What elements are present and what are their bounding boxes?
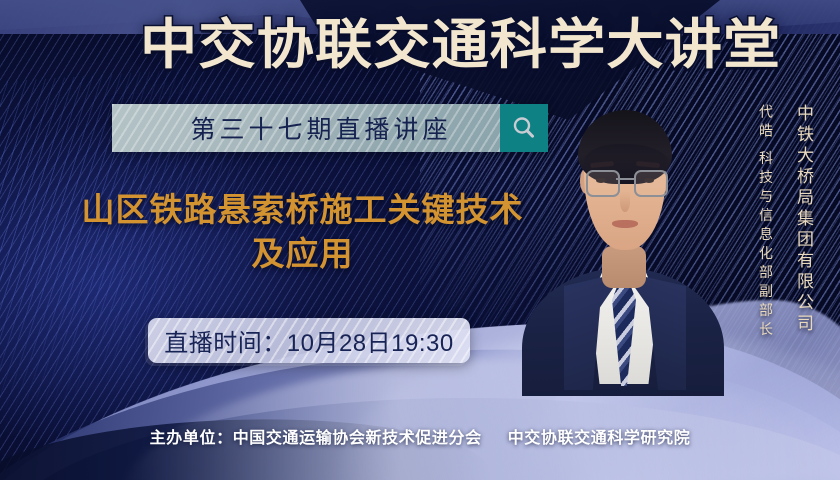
glasses-lens-right: [634, 170, 668, 197]
organizer-label: 主办单位：: [150, 430, 233, 447]
speaker-organization: 中铁大桥局集团有限公司: [791, 104, 816, 335]
glasses-lens-left: [586, 170, 620, 197]
episode-label-box: 第三十七期直播讲座: [112, 104, 500, 152]
speaker-neck: [602, 246, 646, 288]
speaker-name-role: 代皓 科技与信息化部副部长: [756, 104, 776, 341]
topic-line-1: 山区铁路悬索桥施工关键技术: [82, 191, 524, 228]
speaker-mouth: [612, 220, 638, 228]
broadcast-time-badge: 直播时间：10月28日19:30: [148, 318, 470, 363]
glasses-bridge: [616, 178, 634, 180]
webinar-poster: 中交协联交通科学大讲堂 第三十七期直播讲座 山区铁路悬索桥施工关键技术 及应用 …: [0, 0, 840, 480]
episode-label: 第三十七期直播讲座: [160, 110, 451, 146]
speaker-portrait: [528, 96, 718, 386]
topic-line-2: 及应用: [30, 232, 575, 276]
organizer-name-1: 中国交通运输协会新技术促进分会: [233, 430, 482, 447]
lecture-topic: 山区铁路悬索桥施工关键技术 及应用: [30, 188, 575, 276]
organizer-name-2: 中交协联交通科学研究院: [508, 430, 691, 447]
speaker-nose: [620, 192, 630, 212]
footer-organizers: 主办单位：中国交通运输协会新技术促进分会中交协联交通科学研究院: [0, 424, 840, 448]
broadcast-time-text: 直播时间：10月28日19:30: [164, 323, 453, 358]
page-title: 中交协联交通科学大讲堂: [140, 14, 734, 76]
episode-bar: 第三十七期直播讲座: [112, 104, 548, 152]
